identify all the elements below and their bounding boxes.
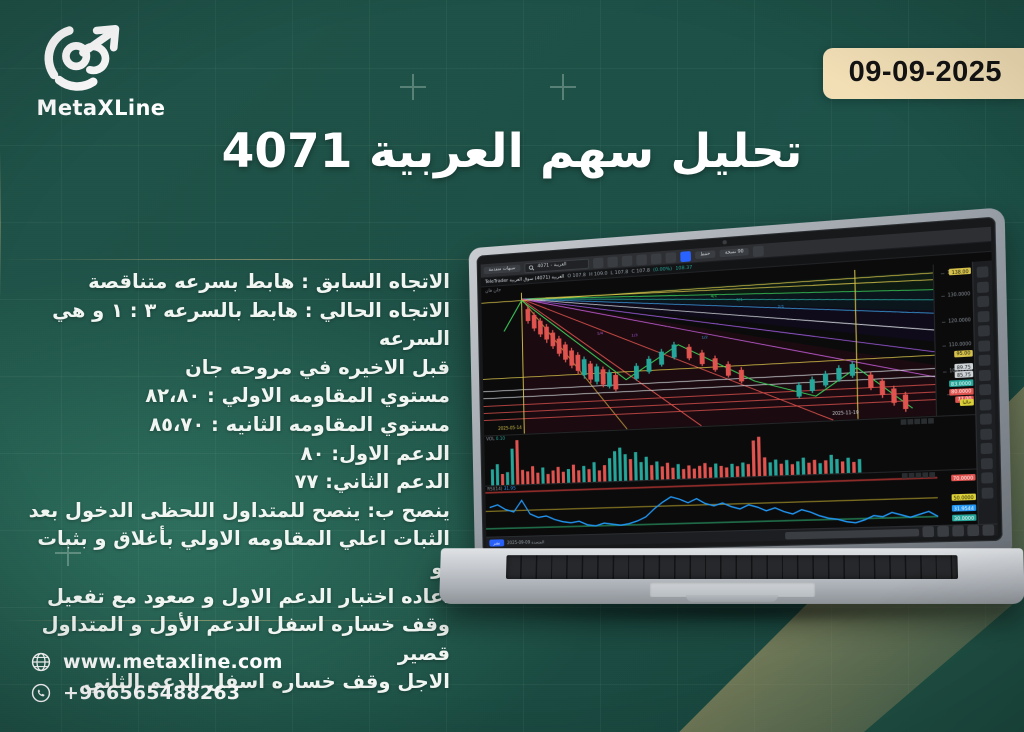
brand-name: MetaXLine xyxy=(26,96,176,120)
rsi-badge: 50.0000 xyxy=(951,494,976,501)
poster-canvas: MetaXLine 09-09-2025 تحليل سهم العربية 4… xyxy=(0,0,1024,732)
text-icon[interactable] xyxy=(979,384,991,395)
save-layout-icon[interactable] xyxy=(922,526,934,537)
camera-icon[interactable] xyxy=(666,252,677,263)
fan-label: 2/1 xyxy=(777,303,784,309)
layout-count-label[interactable]: 90 نسخة xyxy=(720,248,749,257)
publish-button[interactable]: نشر xyxy=(489,539,504,546)
rsi-pane-title: RSI(14) xyxy=(487,486,502,492)
footer-website-text: www.metaxline.com xyxy=(63,651,283,673)
side-badge: 80.0000 xyxy=(949,388,974,396)
fullscreen-icon[interactable] xyxy=(937,526,949,537)
price-tick: 120.0000 xyxy=(948,317,971,324)
fib-icon[interactable] xyxy=(979,354,991,366)
price-label: 138.00 xyxy=(949,268,971,276)
trendline-icon[interactable] xyxy=(977,296,989,308)
crosshair-icon[interactable] xyxy=(977,281,989,293)
symbol-high: H 109.0 xyxy=(589,271,608,277)
fan-label: 1/2 xyxy=(701,334,708,340)
search-icon xyxy=(528,264,534,270)
brand-logo[interactable]: MetaXLine xyxy=(26,22,176,120)
plus-marker-icon xyxy=(400,74,426,100)
price-label: 95.00 xyxy=(954,350,973,358)
footer-website-row[interactable]: www.metaxline.com xyxy=(30,651,283,673)
symbol-low: L 107.8 xyxy=(611,270,629,276)
footer-contacts: www.metaxline.com +966565488263 xyxy=(30,642,283,704)
symbol-last: 108.37 xyxy=(675,265,692,271)
symbol-change: (0.00%) xyxy=(653,266,672,273)
analysis-line: الاتجاه الحالي : هابط بالسرعه ٣ : ١ و هي… xyxy=(20,297,450,354)
rsi-pane-title-row: RSI(14) 31.95 xyxy=(487,486,516,492)
analysis-line: مستوي المقاومه الثانيه : ٨٥،٧٠ xyxy=(20,411,450,440)
side-badge: حاليا xyxy=(960,398,974,405)
magnet-icon[interactable] xyxy=(680,251,691,262)
analysis-line: اعاده اختبار الدعم الاول و صعود مع تفعيل xyxy=(20,583,450,612)
symbol-close: C 107.8 xyxy=(631,268,650,274)
analysis-line: الدعم الثاني: ٧٧ xyxy=(20,468,450,497)
rsi-badge: 31.9544 xyxy=(951,505,976,512)
side-badge: 83.0000 xyxy=(949,379,974,387)
divider-top xyxy=(0,259,504,260)
laptop-notch xyxy=(686,595,778,602)
redo-icon[interactable] xyxy=(607,256,618,267)
save-button[interactable]: حفظ xyxy=(695,250,715,259)
price-label: 89.75 xyxy=(954,363,973,370)
date-badge: 09-09-2025 xyxy=(823,48,1024,99)
laptop-base xyxy=(439,548,1024,604)
horizontal-line-icon[interactable] xyxy=(978,310,990,322)
zoom-out-icon[interactable] xyxy=(967,525,979,536)
price-tick: 110.0000 xyxy=(949,341,972,348)
alarm-icon[interactable] xyxy=(651,253,662,264)
globe-icon xyxy=(30,651,52,673)
price-tick: 130.0000 xyxy=(948,291,971,298)
symbol-search-value: العربية - 4071 xyxy=(537,262,566,269)
laptop-lid: 90 نسخة حفظ العربية - 4071 xyxy=(469,207,1013,563)
date-marker-left: 2025-05-14 xyxy=(498,424,522,430)
lock-icon[interactable] xyxy=(981,472,993,483)
zoom-icon[interactable] xyxy=(980,428,992,439)
range-selector[interactable] xyxy=(785,528,919,539)
volume-pane-title: VOL xyxy=(486,436,494,441)
reset-chart-icon[interactable] xyxy=(952,525,964,536)
webcam-icon xyxy=(723,240,727,244)
publish-icon[interactable] xyxy=(636,254,647,265)
price-plot xyxy=(481,265,936,436)
analysis-line: ينصح ب: ينصح للمتداول اللحظى الدخول بعد xyxy=(20,497,450,526)
pattern-icon[interactable] xyxy=(978,340,990,352)
cursor-icon[interactable] xyxy=(977,266,989,278)
footer-phone-text: +966565488263 xyxy=(63,682,240,704)
zoom-in-icon[interactable] xyxy=(982,525,994,536)
analysis-line: مستوي المقاومه الاولي : ٨٢،٨٠ xyxy=(20,382,450,411)
fan-label: 4/1 xyxy=(711,292,718,298)
fan-label: 3/1 xyxy=(736,297,743,303)
plus-marker-icon xyxy=(550,74,576,100)
footer-phone-row[interactable]: +966565488263 xyxy=(30,682,283,704)
symbol-open: O 107.8 xyxy=(567,273,586,279)
analysis-line: الاتجاه السابق : هابط بسرعه متناقصة xyxy=(20,268,450,297)
indicator-label: جان فان xyxy=(485,288,501,294)
chart-panes: 1/4 1/3 1/2 2/1 3/1 4/1 2025-05-14 2025-… xyxy=(481,261,997,537)
flag-icon[interactable] xyxy=(980,399,992,410)
volume-pane-value: 0.10 xyxy=(496,435,505,440)
rsi-pane-value: 31.95 xyxy=(504,486,516,491)
fan-label: 1/3 xyxy=(631,332,637,338)
analysis-line: الدعم الاول: ٨٠ xyxy=(20,440,450,469)
laptop-bezel: 90 نسخة حفظ العربية - 4071 xyxy=(477,217,1003,553)
volume-pane-title-row: VOL 0.10 xyxy=(486,435,505,441)
whatsapp-icon xyxy=(30,682,52,704)
analysis-line: قبل الاخيره في مروحه جان xyxy=(20,354,450,383)
rsi-badge: 30.0000 xyxy=(952,514,977,521)
page-title: تحليل سهم العربية 4071 xyxy=(0,124,1024,179)
undo-icon[interactable] xyxy=(593,257,603,268)
forecast-icon[interactable] xyxy=(979,369,991,380)
price-label: 85.75 xyxy=(955,371,974,378)
advanced-alerts-button[interactable]: تنبيهات متقدمة xyxy=(484,265,521,275)
measure-icon[interactable] xyxy=(980,413,992,424)
eye-icon[interactable] xyxy=(981,458,993,469)
analysis-line: الثبات اعلي المقاومه الاولي بأغلاق و بثب… xyxy=(20,525,450,582)
pencil-icon[interactable] xyxy=(753,245,764,256)
rsi-badge: 70.0000 xyxy=(951,474,976,481)
trash-icon[interactable] xyxy=(982,487,994,498)
analysis-text-block: الاتجاه السابق : هابط بسرعه متناقصة الات… xyxy=(20,268,450,697)
layout-icon[interactable] xyxy=(622,255,633,266)
chart-application: 90 نسخة حفظ العربية - 4071 xyxy=(481,227,998,548)
fan-label: 1/4 xyxy=(597,330,603,335)
pane-controls[interactable] xyxy=(902,472,935,479)
laptop-mockup: 90 نسخة حفظ العربية - 4071 xyxy=(440,248,1024,648)
ellipse-icon[interactable] xyxy=(978,325,990,337)
statusbar-symbol: 2025-09-09 المتحدة xyxy=(507,539,544,545)
metaxline-arrow-logo-icon xyxy=(40,22,126,92)
laptop-keyboard xyxy=(506,555,958,579)
magnet-tool-icon[interactable] xyxy=(981,443,993,454)
